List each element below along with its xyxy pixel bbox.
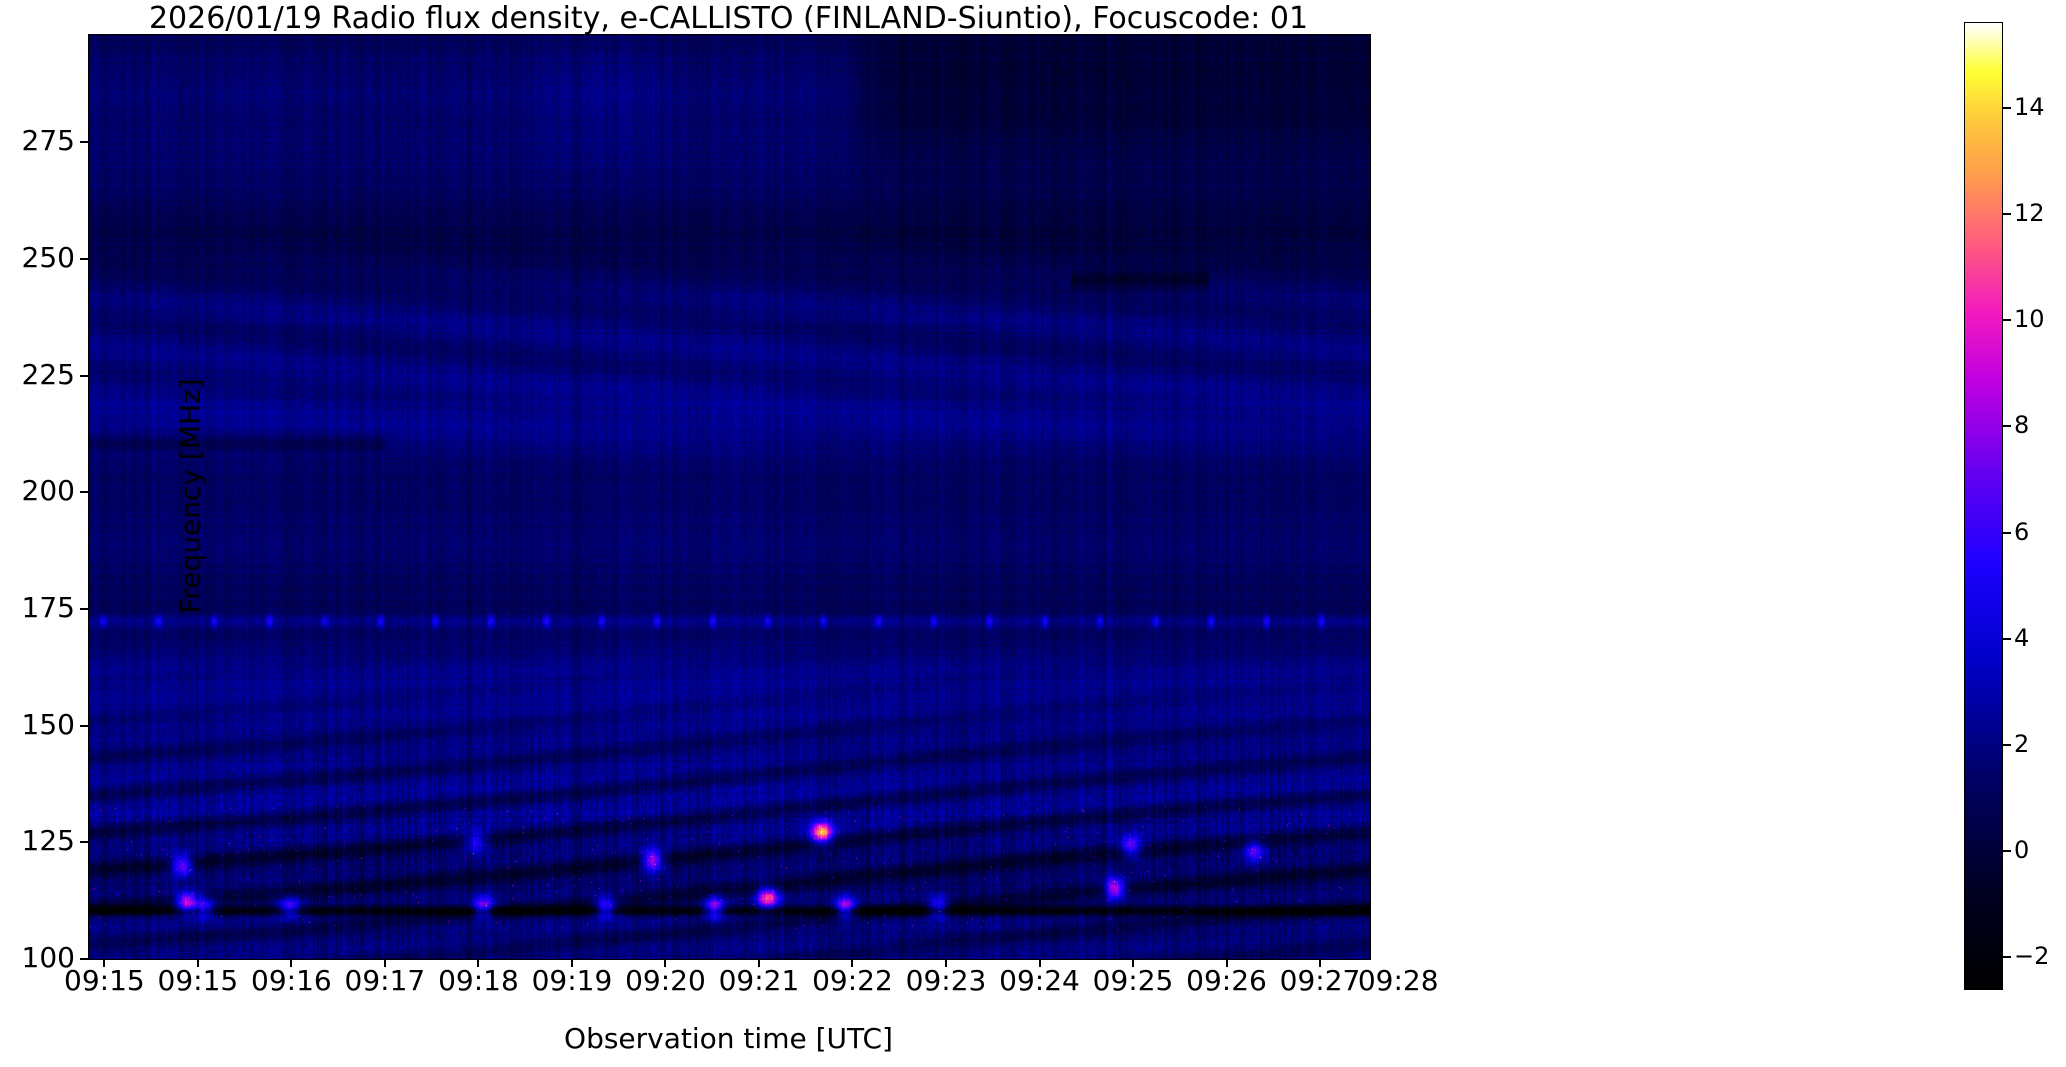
colorbar[interactable] — [1964, 22, 2003, 990]
colorbar-tick-mark — [2003, 744, 2011, 746]
y-axis-tick-label: 200 — [22, 474, 75, 507]
y-axis-tick-label: 175 — [22, 591, 75, 624]
colorbar-tick-label: 8 — [2014, 411, 2029, 439]
y-axis-tick-mark — [80, 258, 88, 260]
colorbar-tick-label: 6 — [2014, 518, 2029, 546]
colorbar-tick-label: −2 — [2014, 942, 2049, 970]
y-axis-tick-mark — [80, 375, 88, 377]
colorbar-tick-label: 2 — [2014, 730, 2029, 758]
y-axis-tick-label: 125 — [22, 824, 75, 857]
colorbar-tick-mark — [2003, 532, 2011, 534]
y-axis-tick-label: 150 — [22, 708, 75, 741]
colorbar-tick-label: 4 — [2014, 624, 2029, 652]
colorbar-tick-mark — [2003, 425, 2011, 427]
y-axis-tick-mark — [80, 141, 88, 143]
page-title: 2026/01/19 Radio flux density, e-CALLIST… — [88, 2, 1369, 36]
colorbar-tick-label: 14 — [2014, 93, 2045, 121]
colorbar-tick-mark — [2003, 319, 2011, 321]
colorbar-tick-label: 0 — [2014, 836, 2029, 864]
y-axis-tick-label: 275 — [22, 124, 75, 157]
y-axis-tick-label: 250 — [22, 241, 75, 274]
y-axis-tick-mark — [80, 958, 88, 960]
colorbar-gradient — [1965, 23, 2002, 989]
y-axis-tick-mark — [80, 841, 88, 843]
colorbar-tick-mark — [2003, 213, 2011, 215]
colorbar-tick-mark — [2003, 850, 2011, 852]
y-axis-tick-mark — [80, 491, 88, 493]
spectrogram-image[interactable] — [89, 35, 1370, 959]
colorbar-tick-label: 10 — [2014, 305, 2045, 333]
y-axis-label: Frequency [MHz] — [174, 316, 207, 676]
colorbar-tick-mark — [2003, 956, 2011, 958]
colorbar-tick-mark — [2003, 638, 2011, 640]
spectrogram-figure: 2026/01/19 Radio flux density, e-CALLIST… — [0, 0, 2066, 1067]
y-axis-tick-mark — [80, 725, 88, 727]
colorbar-tick-mark — [2003, 107, 2011, 109]
colorbar-tick-label: 12 — [2014, 199, 2045, 227]
spectrogram-axes[interactable] — [88, 34, 1371, 960]
y-axis-tick-mark — [80, 608, 88, 610]
y-axis-tick-label: 225 — [22, 358, 75, 391]
x-axis-label: Observation time [UTC] — [88, 1022, 1369, 1055]
x-axis-tick-label: 09:28 — [1338, 964, 1458, 997]
